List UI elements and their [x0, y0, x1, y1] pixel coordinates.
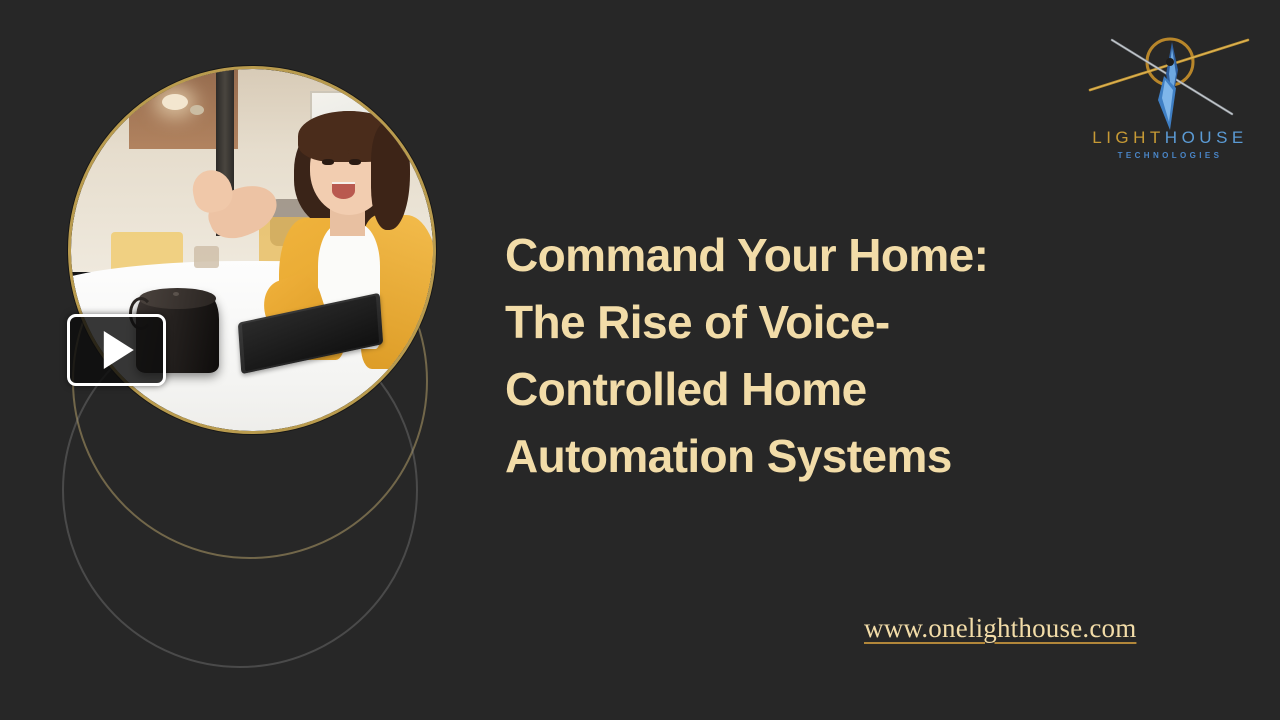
- play-video-button[interactable]: [67, 314, 166, 386]
- photo-cup: [194, 246, 219, 268]
- person-eyebrow-left: [320, 150, 334, 154]
- play-icon: [103, 331, 133, 369]
- speaker-indicator-dot: [173, 292, 179, 296]
- person-eyebrow-right: [347, 150, 361, 154]
- photo-lamp-icon: [162, 94, 188, 110]
- website-url[interactable]: www.onelighthouse.com: [864, 613, 1136, 644]
- lighthouse-compass-icon: [1072, 18, 1268, 136]
- logo-wordmark: LIGHTHOUSE TECHNOLOGIES: [1072, 128, 1268, 160]
- person-mouth: [332, 182, 355, 199]
- logo-word-house: HOUSE: [1165, 128, 1248, 147]
- slide-title: Command Your Home: The Rise of Voice- Co…: [505, 222, 1145, 490]
- logo-word-light: LIGHT: [1092, 128, 1165, 147]
- person-hair-side: [371, 123, 410, 230]
- logo-tagline: TECHNOLOGIES: [1072, 151, 1268, 160]
- person-eye-right: [349, 159, 361, 166]
- person-eye-left: [322, 159, 334, 166]
- brand-logo[interactable]: LIGHTHOUSE TECHNOLOGIES: [1072, 18, 1268, 178]
- presentation-slide: LIGHTHOUSE TECHNOLOGIES Command Your Hom…: [0, 0, 1280, 720]
